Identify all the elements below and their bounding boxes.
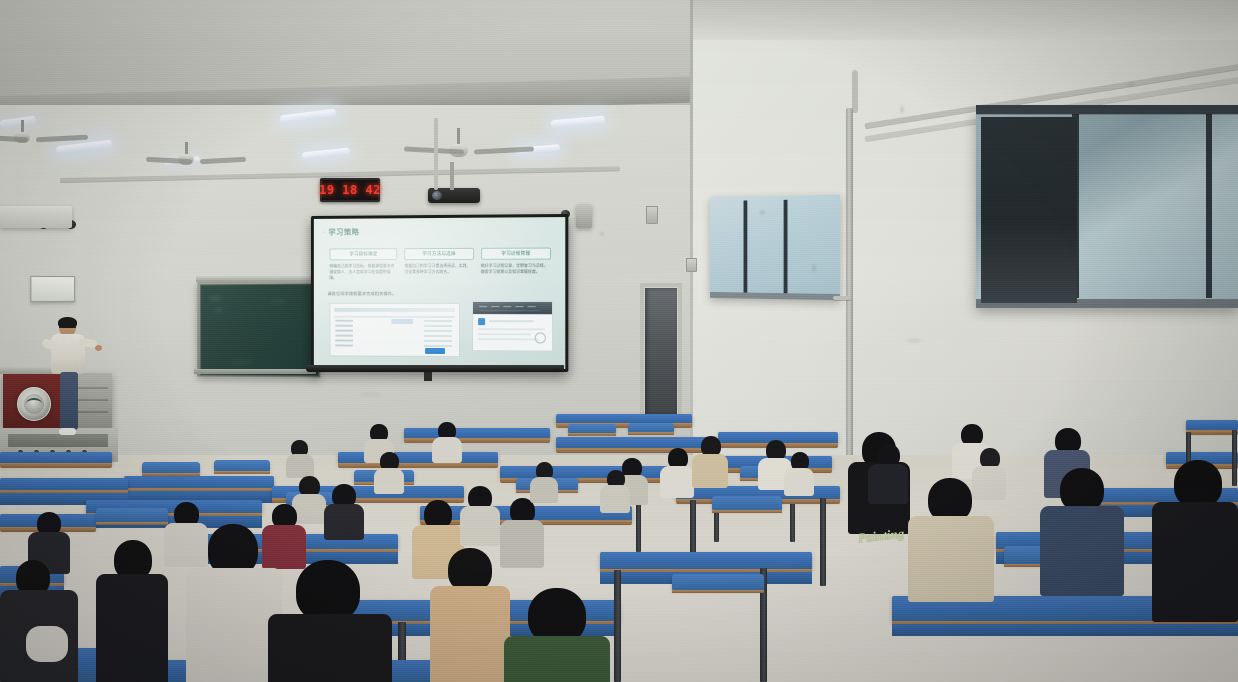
digital-wall-clock: 19 18 42	[320, 178, 380, 202]
student	[504, 588, 610, 682]
seat-back	[628, 423, 674, 432]
desk-leg	[820, 498, 826, 586]
slide-card-heading: 学习过程管理	[481, 247, 551, 259]
vertical-conduit-pole	[846, 108, 853, 468]
seat-back	[142, 462, 200, 473]
desk-row	[0, 452, 112, 464]
slide-card-heading: 学习目标确定	[329, 248, 397, 260]
desk-leg	[614, 570, 621, 682]
projector-support-arm	[434, 118, 438, 190]
seat-back	[672, 574, 764, 590]
student	[692, 436, 728, 486]
slide-card-body: 根据自己的学习习惯选择阅读、实践、讨论等多种学习方式结合。	[405, 264, 474, 276]
student	[1152, 460, 1238, 620]
window-latch-bar	[833, 296, 851, 300]
student	[972, 448, 1006, 496]
screenshot-status-icon	[535, 332, 546, 343]
desk-row-near	[600, 552, 812, 570]
window-mullion	[1206, 112, 1212, 298]
student	[324, 484, 364, 536]
slide-card: 学习方法与选择 根据自己的学习习惯选择阅读、实践、讨论等多种学习方式结合。	[405, 248, 474, 282]
desk-row	[124, 476, 274, 489]
student	[432, 422, 462, 458]
student	[600, 470, 630, 510]
window-glass	[710, 195, 840, 300]
screenshot-primary-button	[391, 319, 413, 324]
presenter	[46, 318, 102, 438]
slide-card: 学习过程管理 做好学习过程记录，定期复习与总结，确保学习效果以及知识掌握程度。	[481, 247, 551, 281]
window-dark-pane	[981, 117, 1077, 303]
student	[430, 548, 510, 682]
projection-screen: ·学习策略 学习目标确定 明确自己的学习目标，根据课程要求合理安排人、为人完成学…	[311, 214, 568, 372]
wall-speaker	[576, 204, 592, 228]
presenter-hair	[58, 317, 77, 328]
student	[784, 452, 814, 494]
wall-conduit-drop	[852, 70, 858, 112]
student	[1040, 468, 1124, 592]
student	[460, 486, 500, 542]
slide-card-body: 做好学习过程记录，定期复习与总结，确保学习效果以及知识掌握程度。	[481, 264, 551, 276]
wall-notice-board	[30, 276, 75, 302]
wall-junction-box	[686, 258, 697, 272]
platform-panel-screenshot	[472, 301, 553, 352]
desk-row-far	[404, 428, 550, 439]
projector-lens	[432, 191, 442, 200]
green-chalkboard	[197, 280, 320, 377]
ceiling-projector	[428, 188, 480, 203]
slide-title-bullet: ·	[324, 228, 327, 237]
student	[868, 444, 908, 500]
slide-card: 学习目标确定 明确自己的学习目标，根据课程要求合理安排人、为人完成学习任务提供保…	[329, 248, 397, 282]
right-wall-ceiling-strip	[690, 0, 1238, 40]
window-left-sliding	[710, 195, 840, 300]
slide-surface: ·学习策略 学习目标确定 明确自己的学习目标，根据课程要求合理安排人、为人完成学…	[314, 217, 565, 369]
projector-mount	[450, 162, 454, 190]
screen-mount-bracket	[424, 372, 432, 381]
presenter-legs	[60, 372, 78, 430]
seat-back	[96, 508, 168, 522]
lecture-hall-photo: 19 18 42 ·学习策略	[0, 0, 1238, 682]
seat-back	[568, 424, 616, 433]
window-mullion	[744, 200, 748, 294]
chalk-tray	[194, 369, 316, 374]
seat-back	[214, 460, 270, 471]
classroom-doorway[interactable]	[645, 288, 677, 416]
student	[660, 448, 694, 494]
window-frame-shadow	[976, 105, 1238, 114]
slide-note: 请各位同学按照要求完成相关操作。	[328, 291, 397, 297]
slide-title-text: 学习策略	[328, 228, 359, 237]
desk-row-far	[1186, 420, 1238, 431]
student	[0, 560, 78, 682]
screenshot-icon-badge	[478, 318, 485, 325]
desk-row	[338, 452, 498, 464]
presenter-shoe	[59, 428, 76, 435]
student	[96, 540, 168, 682]
seat-back	[712, 496, 782, 510]
student	[374, 452, 404, 490]
wall-corner	[690, 0, 693, 470]
screen-bottom-bar	[306, 365, 564, 372]
slide-card-heading: 学习方法与选择	[405, 248, 474, 260]
student	[268, 560, 392, 682]
course-list-screenshot	[329, 303, 460, 357]
clock-time: 19 18 42	[319, 183, 381, 197]
chalkboard-surface	[200, 283, 319, 376]
slide-card-body: 明确自己的学习目标，根据课程要求合理安排人、为人完成学习任务提供保障。	[329, 264, 397, 282]
window-mullion	[784, 200, 788, 295]
screenshot-action-button	[425, 348, 445, 354]
desk-row	[0, 478, 128, 491]
slide-title: ·学习策略	[324, 227, 360, 238]
student	[530, 462, 558, 500]
wall-ac-unit	[0, 206, 72, 228]
presenter-hand	[95, 345, 102, 351]
wall-electrical-box	[646, 206, 658, 224]
slide-cards: 学习目标确定 明确自己的学习目标，根据课程要求合理安排人、为人完成学习任务提供保…	[329, 247, 551, 281]
student	[286, 440, 314, 474]
